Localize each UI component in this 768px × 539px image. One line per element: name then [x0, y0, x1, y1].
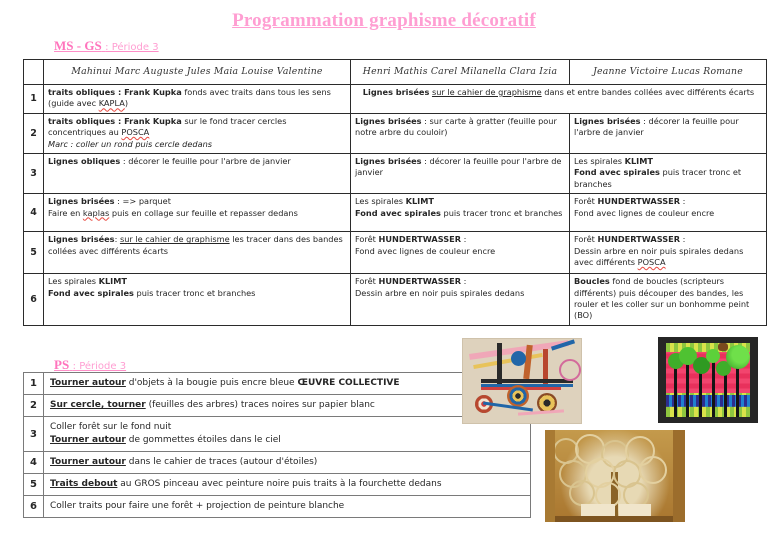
cell-text: Fond avec lignes de couleur encre — [574, 208, 714, 218]
cell-text-post: puis en collage sur feuille et repasser … — [109, 208, 298, 218]
cell-artist: HUNDERTWASSER — [378, 234, 461, 244]
group-3-names: Jeanne Victoire Lucas Romane — [593, 66, 743, 77]
cell-underlined: Tourner autour — [50, 457, 126, 467]
table-row: 1 traits obliques : Frank Kupka fonds av… — [24, 85, 767, 114]
cell-text: (feuilles des arbres) traces noires sur … — [146, 400, 375, 410]
cell-group-3: Lignes brisées : décorer la feuille pour… — [570, 113, 767, 153]
cell-artist: KLIMT — [625, 156, 653, 166]
cell-artist: HUNDERTWASSER — [378, 276, 461, 286]
cell-text-pre: Faire en — [48, 208, 83, 218]
cell-underlined: Tourner autour — [50, 435, 126, 445]
row-number: 3 — [24, 417, 44, 452]
cell-text: Coller traits pour faire une forêt + pro… — [50, 501, 344, 511]
cell-emphasis: Lignes brisées — [355, 116, 422, 126]
cell-group-1: traits obliques : Frank Kupka sur le fon… — [44, 113, 351, 153]
cell-spellcheck-word: KAPLA — [99, 98, 125, 108]
table-row: 3 Coller forêt sur le fond nuit Tourner … — [24, 417, 531, 452]
section-period-ms-gs: : Période 3 — [105, 42, 158, 53]
cell-text-pre: Forêt — [355, 234, 378, 244]
table-header-row: Mahinui Marc Auguste Jules Maia Louise V… — [24, 60, 767, 85]
cell-underlined: Sur cercle, tourner — [50, 400, 146, 410]
cell-group-3: Forêt HUNDERTWASSER : Fond avec lignes d… — [570, 194, 767, 232]
section-period-ps: : Période 3 — [73, 361, 126, 372]
table-row: 3 Lignes obliques : décorer le feuille p… — [24, 154, 767, 194]
ps-cell-activity: Coller traits pour faire une forêt + pro… — [44, 496, 531, 518]
cell-text-line1: Coller forêt sur le fond nuit — [50, 422, 171, 432]
cell-text: puis tracer tronc et branches — [137, 288, 256, 298]
cell-text: d'objets à la bougie puis encre bleue — [126, 378, 298, 388]
section-heading-ms-gs: MS - GS : Période 3 — [54, 38, 159, 54]
cell-emphasis: traits obliques : Frank Kupka — [48, 116, 182, 126]
hundertwasser-artwork-image — [658, 337, 758, 423]
cell-group-2: Lignes brisées : sur carte à gratter (fe… — [351, 113, 570, 153]
row-number: 5 — [24, 232, 44, 274]
cell-text: : décorer le feuille pour l'arbre de jan… — [123, 156, 291, 166]
cell-group-1: Les spirales KLIMT Fond avec spirales pu… — [44, 274, 351, 326]
cell-emphasis: traits obliques : Frank Kupka — [48, 87, 182, 97]
cell-spellcheck-word: kaplas — [83, 208, 109, 218]
header-cell-group-1: Mahinui Marc Auguste Jules Maia Louise V… — [44, 60, 351, 85]
table-row: 2 Sur cercle, tourner (feuilles des arbr… — [24, 395, 531, 417]
cell-spellcheck-word: POSCA — [638, 257, 666, 267]
group-2-names: Henri Mathis Carel Milanella Clara Izia — [363, 66, 557, 77]
cell-artist: KLIMT — [406, 196, 434, 206]
section-heading-ps: PS : Période 3 — [54, 357, 126, 373]
cell-emphasis: Lignes brisées — [363, 87, 430, 97]
cell-emphasis: Lignes brisées — [48, 234, 115, 244]
cell-colon: : — [461, 276, 466, 286]
table-row: 2 traits obliques : Frank Kupka sur le f… — [24, 113, 767, 153]
section-level-ps: PS — [54, 357, 69, 372]
cell-artist: HUNDERTWASSER — [597, 234, 680, 244]
table-row: 5 Traits debout au GROS pinceau avec pei… — [24, 474, 531, 496]
cell-highlight: ŒUVRE COLLECTIVE — [297, 378, 399, 388]
cell-colon: : — [115, 234, 118, 244]
cell-emphasis: Boucles — [574, 276, 610, 286]
cell-text: Fond avec lignes de couleur encre — [355, 246, 495, 256]
cell-group-2-3-merged: Lignes brisées sur le cahier de graphism… — [351, 85, 767, 114]
cell-underlined: sur le cahier de graphisme — [432, 87, 542, 97]
cell-text-pre: Forêt — [574, 234, 597, 244]
ps-cell-activity: Tourner autour dans le cahier de traces … — [44, 452, 531, 474]
cell-emphasis: Lignes brisées — [48, 196, 115, 206]
ps-programme-table: 1 Tourner autour d'objets à la bougie pu… — [23, 372, 531, 518]
cell-text: puis tracer tronc et branches — [444, 208, 563, 218]
cell-note: Marc : coller un rond puis cercle dedans — [48, 139, 346, 150]
cell-underlined: Tourner autour — [50, 378, 126, 388]
table-row: 4 Tourner autour dans le cahier de trace… — [24, 452, 531, 474]
cell-text-tail: ) — [125, 98, 128, 108]
section-level-ms-gs: MS - GS — [54, 38, 102, 53]
table-row: 1 Tourner autour d'objets à la bougie pu… — [24, 373, 531, 395]
cell-spellcheck-word: POSCA — [121, 127, 149, 137]
cell-group-1: traits obliques : Frank Kupka fonds avec… — [44, 85, 351, 114]
cell-artist: KLIMT — [99, 276, 127, 286]
ps-cell-activity: Coller forêt sur le fond nuit Tourner au… — [44, 417, 531, 452]
cell-text-pre: Les spirales — [355, 196, 406, 206]
header-cell-index — [24, 60, 44, 85]
cell-group-1: Lignes obliques : décorer le feuille pou… — [44, 154, 351, 194]
cell-group-1: Lignes brisées : => parquet Faire en kap… — [44, 194, 351, 232]
ms-gs-programme-table: Mahinui Marc Auguste Jules Maia Louise V… — [23, 59, 767, 326]
cell-group-2: Forêt HUNDERTWASSER : Fond avec lignes d… — [351, 232, 570, 274]
cell-text: : => parquet — [117, 196, 171, 206]
row-number: 4 — [24, 452, 44, 474]
table-row: 6 Coller traits pour faire une forêt + p… — [24, 496, 531, 518]
cell-group-3: Forêt HUNDERTWASSER : Dessin arbre en no… — [570, 232, 767, 274]
ps-cell-activity: Sur cercle, tourner (feuilles des arbres… — [44, 395, 531, 417]
row-number: 4 — [24, 194, 44, 232]
table-row: 6 Les spirales KLIMT Fond avec spirales … — [24, 274, 767, 326]
group-1-names: Mahinui Marc Auguste Jules Maia Louise V… — [71, 66, 322, 77]
cell-emphasis: Fond avec spirales — [355, 208, 441, 218]
cell-emphasis: Fond avec spirales — [48, 288, 134, 298]
cell-group-2: Lignes brisées : décorer la feuille pour… — [351, 154, 570, 194]
cell-text: de gommettes étoiles dans le ciel — [126, 435, 281, 445]
cell-text: dans le cahier de traces (autour d'étoil… — [126, 457, 317, 467]
table-row: 4 Lignes brisées : => parquet Faire en k… — [24, 194, 767, 232]
cell-artist: HUNDERTWASSER — [597, 196, 680, 206]
row-number: 6 — [24, 274, 44, 326]
page-title: Programmation graphisme décoratif — [0, 10, 768, 32]
cell-group-3: Boucles fond de boucles (scripteurs diff… — [570, 274, 767, 326]
cell-text-pre: Forêt — [574, 196, 597, 206]
row-number: 1 — [24, 85, 44, 114]
cell-colon: : — [680, 234, 685, 244]
cell-text: Dessin arbre en noir puis spirales dedan… — [355, 288, 524, 298]
cell-underlined: Traits debout — [50, 479, 117, 489]
row-number: 2 — [24, 395, 44, 417]
cell-group-2: Forêt HUNDERTWASSER : Dessin arbre en no… — [351, 274, 570, 326]
kupka-artwork-image — [462, 338, 582, 424]
cell-text: au GROS pinceau avec peinture noire puis… — [117, 479, 441, 489]
cell-text-pre: Les spirales — [574, 156, 625, 166]
ps-cell-activity: Tourner autour d'objets à la bougie puis… — [44, 373, 531, 395]
table-row: 5 Lignes brisées: sur le cahier de graph… — [24, 232, 767, 274]
row-number: 1 — [24, 373, 44, 395]
cell-group-2: Les spirales KLIMT Fond avec spirales pu… — [351, 194, 570, 232]
cell-underlined: sur le cahier de graphisme — [120, 234, 230, 244]
header-cell-group-2: Henri Mathis Carel Milanella Clara Izia — [351, 60, 570, 85]
row-number: 6 — [24, 496, 44, 518]
cell-emphasis: Fond avec spirales — [574, 167, 660, 177]
cell-emphasis: Lignes obliques — [48, 156, 120, 166]
ps-cell-activity: Traits debout au GROS pinceau avec peint… — [44, 474, 531, 496]
cell-colon: : — [680, 196, 685, 206]
cell-emphasis: Lignes brisées — [355, 156, 422, 166]
cell-group-1: Lignes brisées: sur le cahier de graphis… — [44, 232, 351, 274]
header-cell-group-3: Jeanne Victoire Lucas Romane — [570, 60, 767, 85]
row-number: 2 — [24, 113, 44, 153]
cell-group-3: Les spirales KLIMT Fond avec spirales pu… — [570, 154, 767, 194]
row-number: 3 — [24, 154, 44, 194]
cell-colon: : — [461, 234, 466, 244]
cell-text-pre: Les spirales — [48, 276, 99, 286]
row-number: 5 — [24, 474, 44, 496]
klimt-artwork-image — [545, 430, 685, 522]
cell-text-pre: Forêt — [355, 276, 378, 286]
cell-text: dans et entre bandes collées avec différ… — [544, 87, 754, 97]
cell-emphasis: Lignes brisées — [574, 116, 641, 126]
